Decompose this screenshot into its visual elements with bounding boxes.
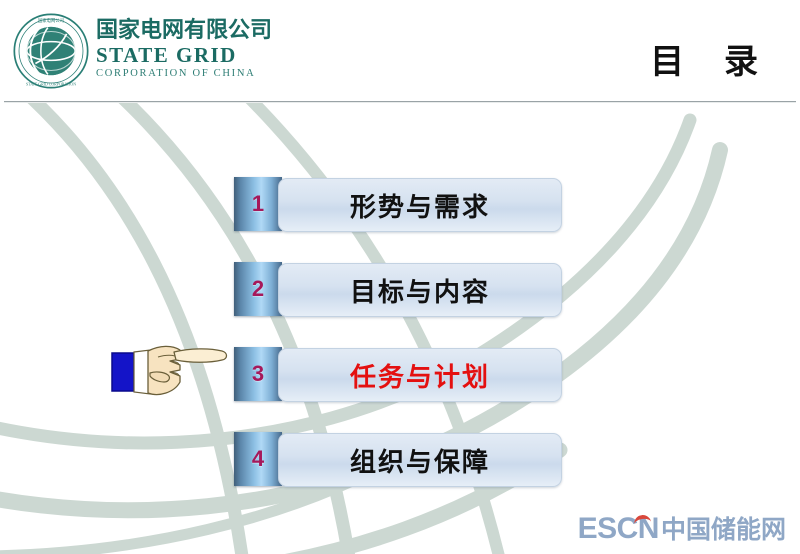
watermark-logo-escn: ESCN [578,512,659,546]
toc-label-4: 组织与保障 [350,442,490,479]
toc-item-1[interactable]: 1 形势与需求 [234,177,560,231]
toc-number-1: 1 [252,191,264,217]
toc-panel-2[interactable]: 目标与内容 [278,263,562,317]
toc-item-3[interactable]: 3 任务与计划 [234,347,560,401]
toc-number-2: 2 [252,276,264,302]
toc-number-3: 3 [252,361,264,387]
watermark: ESCN 中国储能网 [578,510,786,546]
slide-canvas: 国家电网公司 STATE GRID CORPORATION 国家电网有限公司 S… [0,0,800,554]
table-of-contents: 1 形势与需求 2 目标与内容 3 任务与计划 4 [0,0,800,554]
toc-label-2: 目标与内容 [350,272,490,309]
toc-item-4[interactable]: 4 组织与保障 [234,432,560,486]
toc-number-badge-2: 2 [234,262,282,316]
toc-label-1: 形势与需求 [350,187,490,224]
toc-number-4: 4 [252,446,264,472]
watermark-site-name: 中国储能网 [661,510,786,546]
pointing-hand-cursor-icon [110,339,234,403]
toc-label-3: 任务与计划 [350,357,490,394]
toc-item-2[interactable]: 2 目标与内容 [234,262,560,316]
toc-number-badge-4: 4 [234,432,282,486]
toc-panel-4[interactable]: 组织与保障 [278,433,562,487]
toc-panel-3[interactable]: 任务与计划 [278,348,562,402]
toc-number-badge-1: 1 [234,177,282,231]
toc-number-badge-3: 3 [234,347,282,401]
toc-panel-1[interactable]: 形势与需求 [278,178,562,232]
